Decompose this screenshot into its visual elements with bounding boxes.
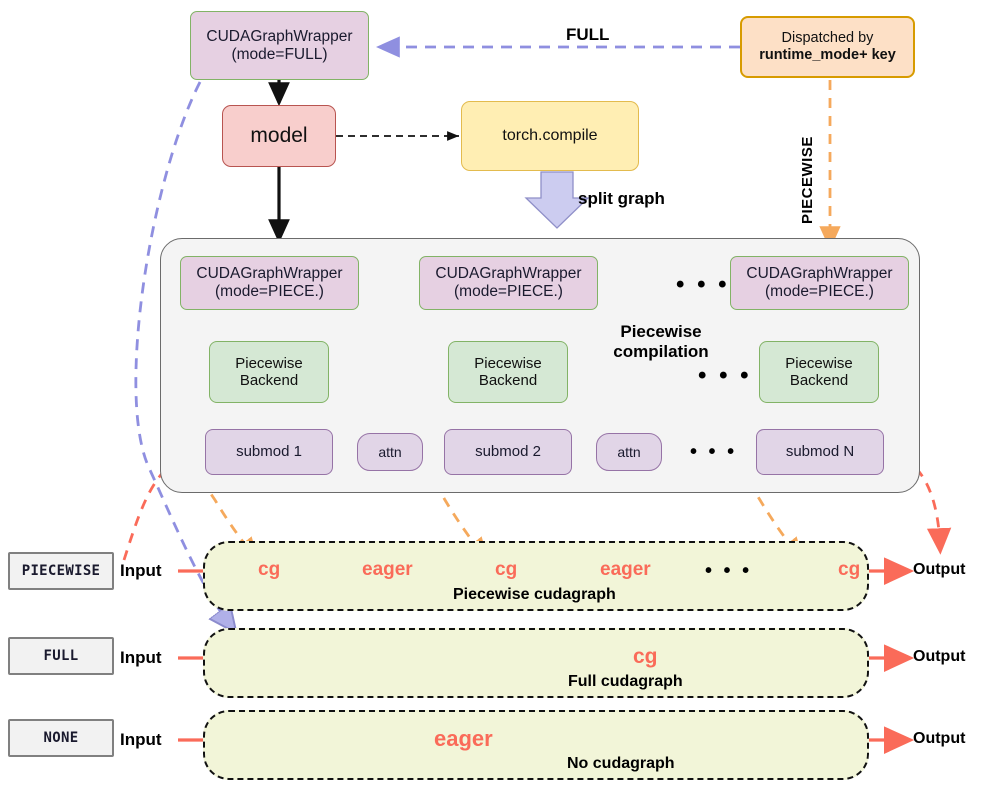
cgwn-line2: (mode=PIECE.) (765, 283, 874, 301)
submod-1[interactable]: submod 1 (205, 429, 333, 475)
attn1-label: attn (378, 444, 401, 460)
dispatcher-line1: Dispatched by (782, 30, 874, 47)
lane-full-label: Full cudagraph (568, 673, 683, 691)
submod-2[interactable]: submod 2 (444, 429, 572, 475)
backend2-line2: Backend (479, 372, 537, 389)
cudagraph-wrapper-piece-1[interactable]: CUDAGraphWrapper (mode=PIECE.) (180, 256, 359, 310)
row1-step-cg-1: cg (258, 559, 280, 581)
dispatcher-node[interactable]: Dispatched by runtime_mode+ key (740, 16, 915, 78)
backend2-line1: Piecewise (474, 355, 542, 372)
cgw1-line1: CUDAGraphWrapper (196, 265, 342, 283)
row3-input-label: Input (120, 730, 162, 750)
torch-compile-node[interactable]: torch.compile (461, 101, 639, 171)
model-node[interactable]: model (222, 105, 336, 167)
row1-input-label: Input (120, 561, 162, 581)
backend1-line1: Piecewise (235, 355, 303, 372)
attn-2[interactable]: attn (596, 433, 662, 471)
row1-step-cg-3: cg (838, 559, 860, 581)
mode-badge-piecewise[interactable]: PIECEWISE (8, 552, 114, 590)
lane-piecewise-label: Piecewise cudagraph (453, 586, 616, 604)
row1-step-eager-2: eager (600, 559, 651, 581)
piecewise-compilation-title: Piecewise compilation (576, 322, 746, 362)
row1-output-label: Output (913, 561, 965, 579)
backendn-line1: Piecewise (785, 355, 853, 372)
lane-full (203, 628, 869, 698)
cgwn-line1: CUDAGraphWrapper (746, 265, 892, 283)
submod2-label: submod 2 (475, 443, 541, 460)
group-ellipsis-backends: • • • (698, 364, 752, 388)
mode-badge-full[interactable]: FULL (8, 637, 114, 675)
cgw2-line1: CUDAGraphWrapper (435, 265, 581, 283)
backendn-line2: Backend (790, 372, 848, 389)
attn-1[interactable]: attn (357, 433, 423, 471)
row3-output-label: Output (913, 730, 965, 748)
dispatcher-line2: runtime_mode+ key (759, 47, 896, 64)
piecewise-backend-2[interactable]: Piecewise Backend (448, 341, 568, 403)
row1-step-cg-2: cg (495, 559, 517, 581)
cudagraph-wrapper-piece-n[interactable]: CUDAGraphWrapper (mode=PIECE.) (730, 256, 909, 310)
piecewise-edge-label: PIECEWISE (799, 136, 816, 224)
split-graph-label: split graph (578, 189, 665, 209)
torch-compile-label: torch.compile (502, 127, 597, 145)
cudagraph-wrapper-piece-2[interactable]: CUDAGraphWrapper (mode=PIECE.) (419, 256, 598, 310)
piecewise-backend-1[interactable]: Piecewise Backend (209, 341, 329, 403)
row1-step-ellipsis: • • • (705, 561, 752, 581)
row2-output-label: Output (913, 648, 965, 666)
cgw2-line2: (mode=PIECE.) (454, 283, 563, 301)
row2-step-cg: cg (633, 645, 658, 669)
piecewise-backend-n[interactable]: Piecewise Backend (759, 341, 879, 403)
submod-n[interactable]: submod N (756, 429, 884, 475)
cudagraph-wrapper-full-line1: CUDAGraphWrapper (206, 28, 352, 46)
mode-none-label: NONE (44, 730, 79, 746)
diagram-canvas: CUDAGraphWrapper (mode=FULL) model torch… (0, 0, 985, 800)
group-ellipsis-submods: • • • (690, 442, 737, 462)
row3-step-eager: eager (434, 726, 493, 752)
submodn-label: submod N (786, 443, 854, 460)
group-title-line2: compilation (613, 342, 708, 361)
backend1-line2: Backend (240, 372, 298, 389)
cgw1-line2: (mode=PIECE.) (215, 283, 324, 301)
mode-full-label: FULL (44, 648, 79, 664)
full-edge-label: FULL (566, 25, 609, 45)
attn2-label: attn (617, 444, 640, 460)
cudagraph-wrapper-full-line2: (mode=FULL) (231, 46, 327, 64)
row2-input-label: Input (120, 648, 162, 668)
submod1-label: submod 1 (236, 443, 302, 460)
row1-step-eager-1: eager (362, 559, 413, 581)
cudagraph-wrapper-full[interactable]: CUDAGraphWrapper (mode=FULL) (190, 11, 369, 80)
mode-piecewise-label: PIECEWISE (22, 563, 101, 579)
model-label: model (250, 124, 307, 148)
mode-badge-none[interactable]: NONE (8, 719, 114, 757)
group-ellipsis-wrappers: • • • (676, 273, 730, 297)
lane-none (203, 710, 869, 780)
lane-none-label: No cudagraph (567, 755, 675, 773)
group-title-line1: Piecewise (620, 322, 701, 341)
